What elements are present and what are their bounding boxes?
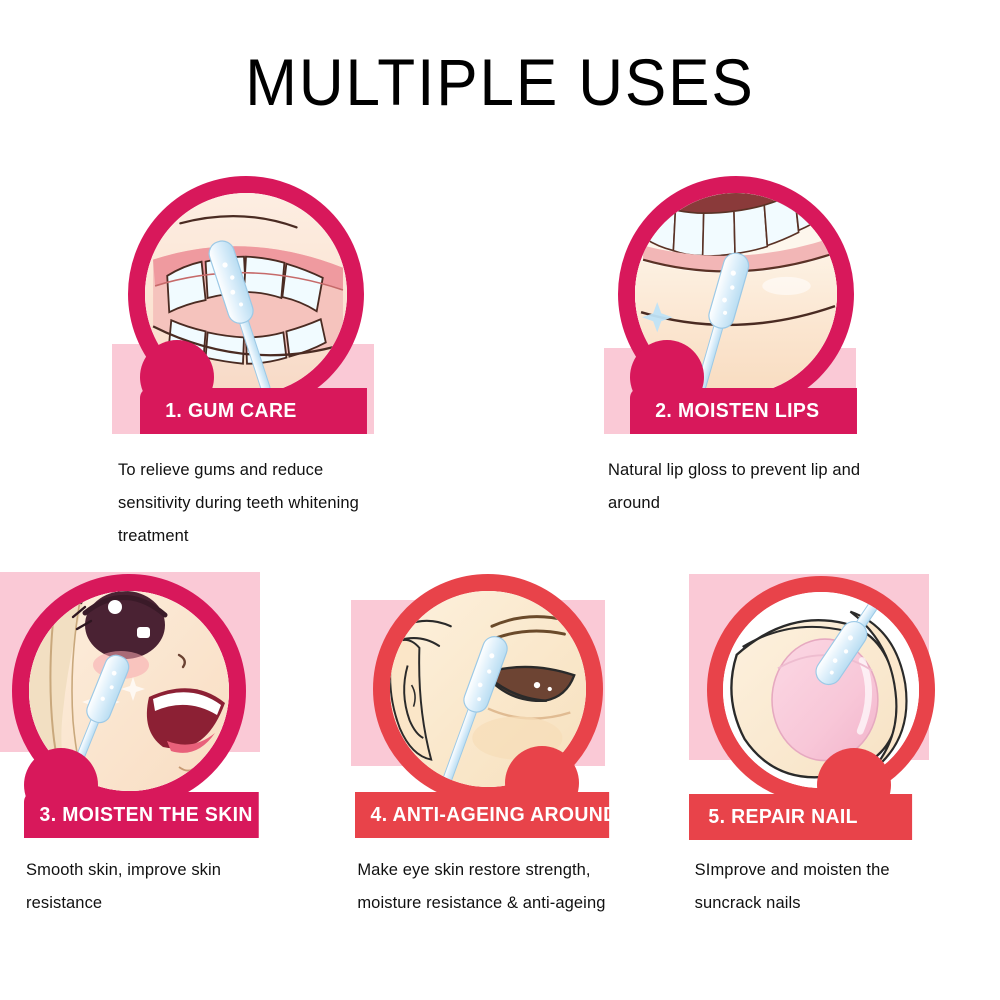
panel-caption-3: Smooth skin, improve skin resistance — [26, 854, 276, 920]
illustration-area-5: 5. REPAIR NAIL — [667, 560, 1000, 838]
use-panel-4[interactable]: 4. ANTI-AGEING AROUND Make eye skin rest… — [333, 560, 666, 838]
panel-label-3: 3. MOISTEN THE SKIN — [24, 792, 259, 838]
panel-caption-5: SImprove and moisten the suncrack nails — [695, 854, 935, 920]
panel-label-1: 1. GUM CARE — [140, 388, 367, 434]
panel-caption-4: Make eye skin restore strength, moisture… — [357, 854, 629, 920]
illustration-area-4: 4. ANTI-AGEING AROUND — [333, 560, 666, 838]
uses-row-top: 1. GUM CARE To relieve gums and reduce s… — [0, 172, 1000, 434]
finger-nail-swab-icon — [723, 592, 919, 788]
illustration-area-2: 2. MOISTEN LIPS — [592, 172, 1000, 434]
panel-caption-2: Natural lip gloss to prevent lip and aro… — [608, 454, 878, 520]
illustration-finger-nail — [723, 592, 919, 788]
panel-caption-1: To relieve gums and reduce sensitivity d… — [118, 454, 380, 553]
use-panel-3[interactable]: 3. MOISTEN THE SKIN Smooth skin, improve… — [0, 560, 333, 838]
use-panel-1[interactable]: 1. GUM CARE To relieve gums and reduce s… — [102, 172, 592, 434]
panel-label-4: 4. ANTI-AGEING AROUND — [355, 792, 609, 838]
use-panel-2[interactable]: 2. MOISTEN LIPS Natural lip gloss to pre… — [592, 172, 1000, 434]
panel-label-5: 5. REPAIR NAIL — [689, 794, 912, 840]
illustration-area-3: 3. MOISTEN THE SKIN — [0, 560, 333, 838]
illustration-area-1: 1. GUM CARE — [102, 172, 592, 434]
page-title: MULTIPLE USES — [30, 0, 970, 117]
panel-label-2: 2. MOISTEN LIPS — [630, 388, 857, 434]
uses-row-bottom: 3. MOISTEN THE SKIN Smooth skin, improve… — [0, 560, 1000, 838]
use-panel-5[interactable]: 5. REPAIR NAIL SImprove and moisten the … — [667, 560, 1000, 838]
